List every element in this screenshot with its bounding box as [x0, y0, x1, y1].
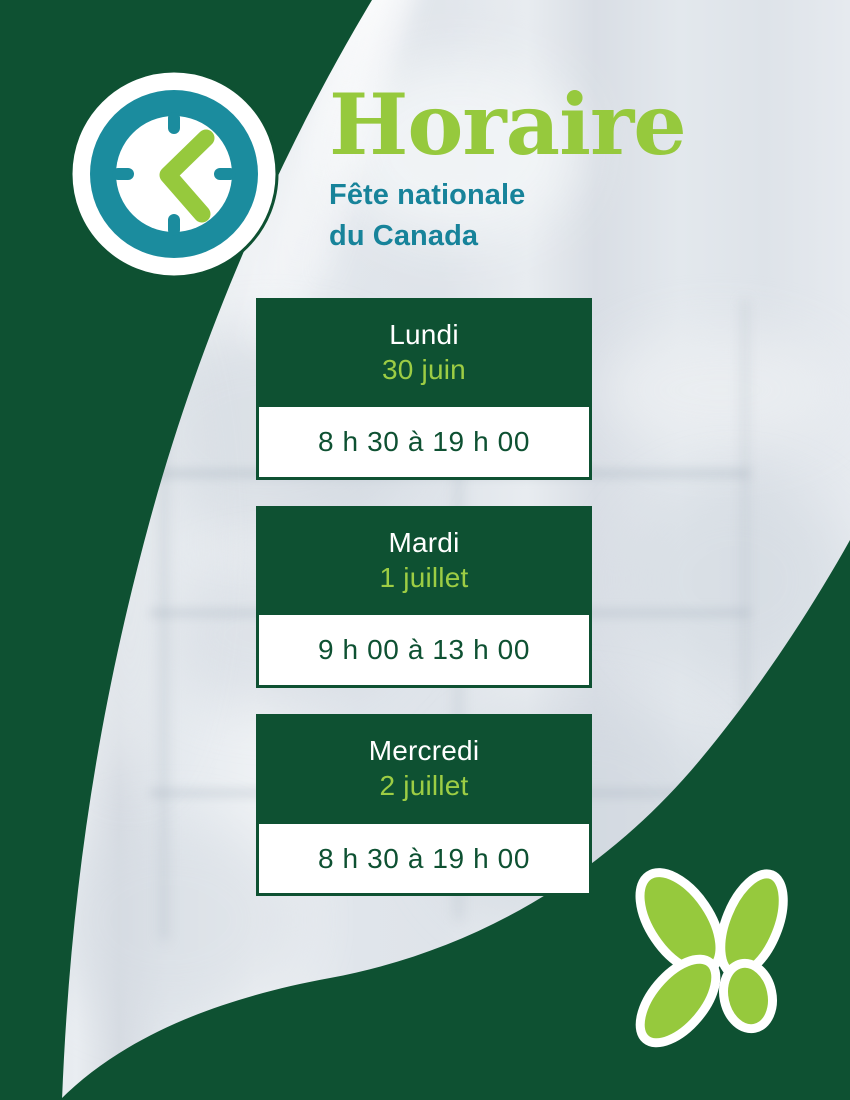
- schedule-card: Mardi 1 juillet 9 h 00 à 13 h 00: [256, 506, 592, 688]
- schedule-card-body: 9 h 00 à 13 h 00: [256, 615, 592, 688]
- schedule-day-label: Lundi: [266, 319, 582, 351]
- schedule-day-label: Mercredi: [266, 735, 582, 767]
- schedule-card-header: Mercredi 2 juillet: [256, 714, 592, 823]
- schedule-day-label: Mardi: [266, 527, 582, 559]
- schedule-card: Mercredi 2 juillet 8 h 30 à 19 h 00: [256, 714, 592, 896]
- schedule-card-list: Lundi 30 juin 8 h 30 à 19 h 00 Mardi 1 j…: [256, 298, 592, 896]
- schedule-date-label: 30 juin: [266, 353, 582, 387]
- page-title: Horaire: [329, 86, 799, 163]
- butterfly-logo-icon: [612, 856, 824, 1068]
- header-text-block: Horaire Fête nationale du Canada: [329, 86, 799, 258]
- clock-icon: [68, 68, 280, 280]
- schedule-card-body: 8 h 30 à 19 h 00: [256, 824, 592, 897]
- poster-canvas: Horaire Fête nationale du Canada Lundi 3…: [0, 0, 850, 1100]
- schedule-hours-label: 8 h 30 à 19 h 00: [267, 844, 581, 875]
- schedule-card-body: 8 h 30 à 19 h 00: [256, 407, 592, 480]
- page-subtitle: Fête nationale du Canada: [329, 175, 799, 257]
- schedule-date-label: 1 juillet: [266, 561, 582, 595]
- schedule-hours-label: 9 h 00 à 13 h 00: [267, 635, 581, 666]
- schedule-card: Lundi 30 juin 8 h 30 à 19 h 00: [256, 298, 592, 480]
- schedule-date-label: 2 juillet: [266, 769, 582, 803]
- schedule-card-header: Lundi 30 juin: [256, 298, 592, 407]
- schedule-card-header: Mardi 1 juillet: [256, 506, 592, 615]
- schedule-hours-label: 8 h 30 à 19 h 00: [267, 427, 581, 458]
